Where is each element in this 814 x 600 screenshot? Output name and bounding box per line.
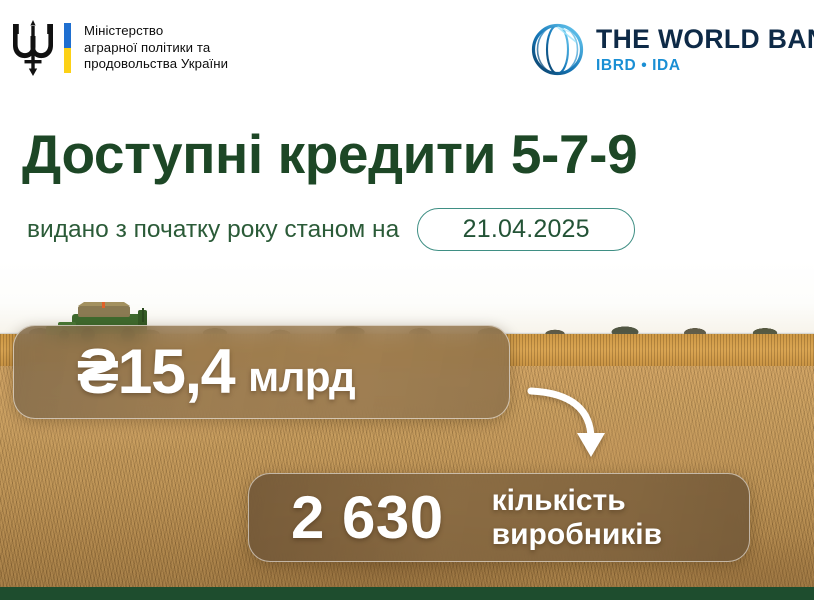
title-block: Доступні кредити 5-7-9 видано з початку … — [0, 110, 814, 260]
ministry-logo: Міністерство аграрної політики та продов… — [10, 20, 228, 76]
subtitle-text: видано з початку року станом на — [27, 216, 399, 244]
trident-icon — [10, 20, 56, 76]
ministry-name-line2: аграрної політики та — [84, 40, 228, 57]
amount-unit: млрд — [248, 356, 355, 398]
subtitle-row: видано з початку року станом на 21.04.20… — [27, 208, 635, 251]
count-label: кількість виробників — [492, 484, 662, 551]
page-title: Доступні кредити 5-7-9 — [22, 122, 637, 186]
ministry-name-line1: Міністерство — [84, 23, 228, 40]
ministry-name-line3: продовольства України — [84, 56, 228, 73]
world-bank-title: THE WORLD BANK — [596, 26, 814, 53]
count-label-line1: кількість — [492, 484, 662, 518]
amount-value: ₴15,4 — [77, 341, 234, 404]
globe-icon — [530, 22, 585, 77]
bottom-green-bar — [0, 587, 814, 600]
header-bar: Міністерство аграрної політики та продов… — [0, 0, 814, 110]
world-bank-logo: THE WORLD BANK IBRD • IDA — [530, 22, 814, 77]
infographic-canvas: ₴15,4 млрд 2 630 кількість виробників — [0, 0, 814, 600]
count-value: 2 630 — [291, 488, 444, 548]
world-bank-subtitle: IBRD • IDA — [596, 58, 814, 74]
date-value: 21.04.2025 — [463, 215, 590, 244]
stat-card-count: 2 630 кількість виробників — [248, 473, 750, 562]
count-label-line2: виробників — [492, 518, 662, 552]
curved-down-arrow-icon — [525, 385, 617, 463]
ministry-name: Міністерство аграрної політики та продов… — [84, 23, 228, 73]
date-badge: 21.04.2025 — [417, 208, 635, 251]
ukraine-flag-divider — [64, 23, 71, 73]
stat-card-amount: ₴15,4 млрд — [13, 325, 510, 419]
world-bank-wordmark: THE WORLD BANK IBRD • IDA — [596, 26, 814, 73]
